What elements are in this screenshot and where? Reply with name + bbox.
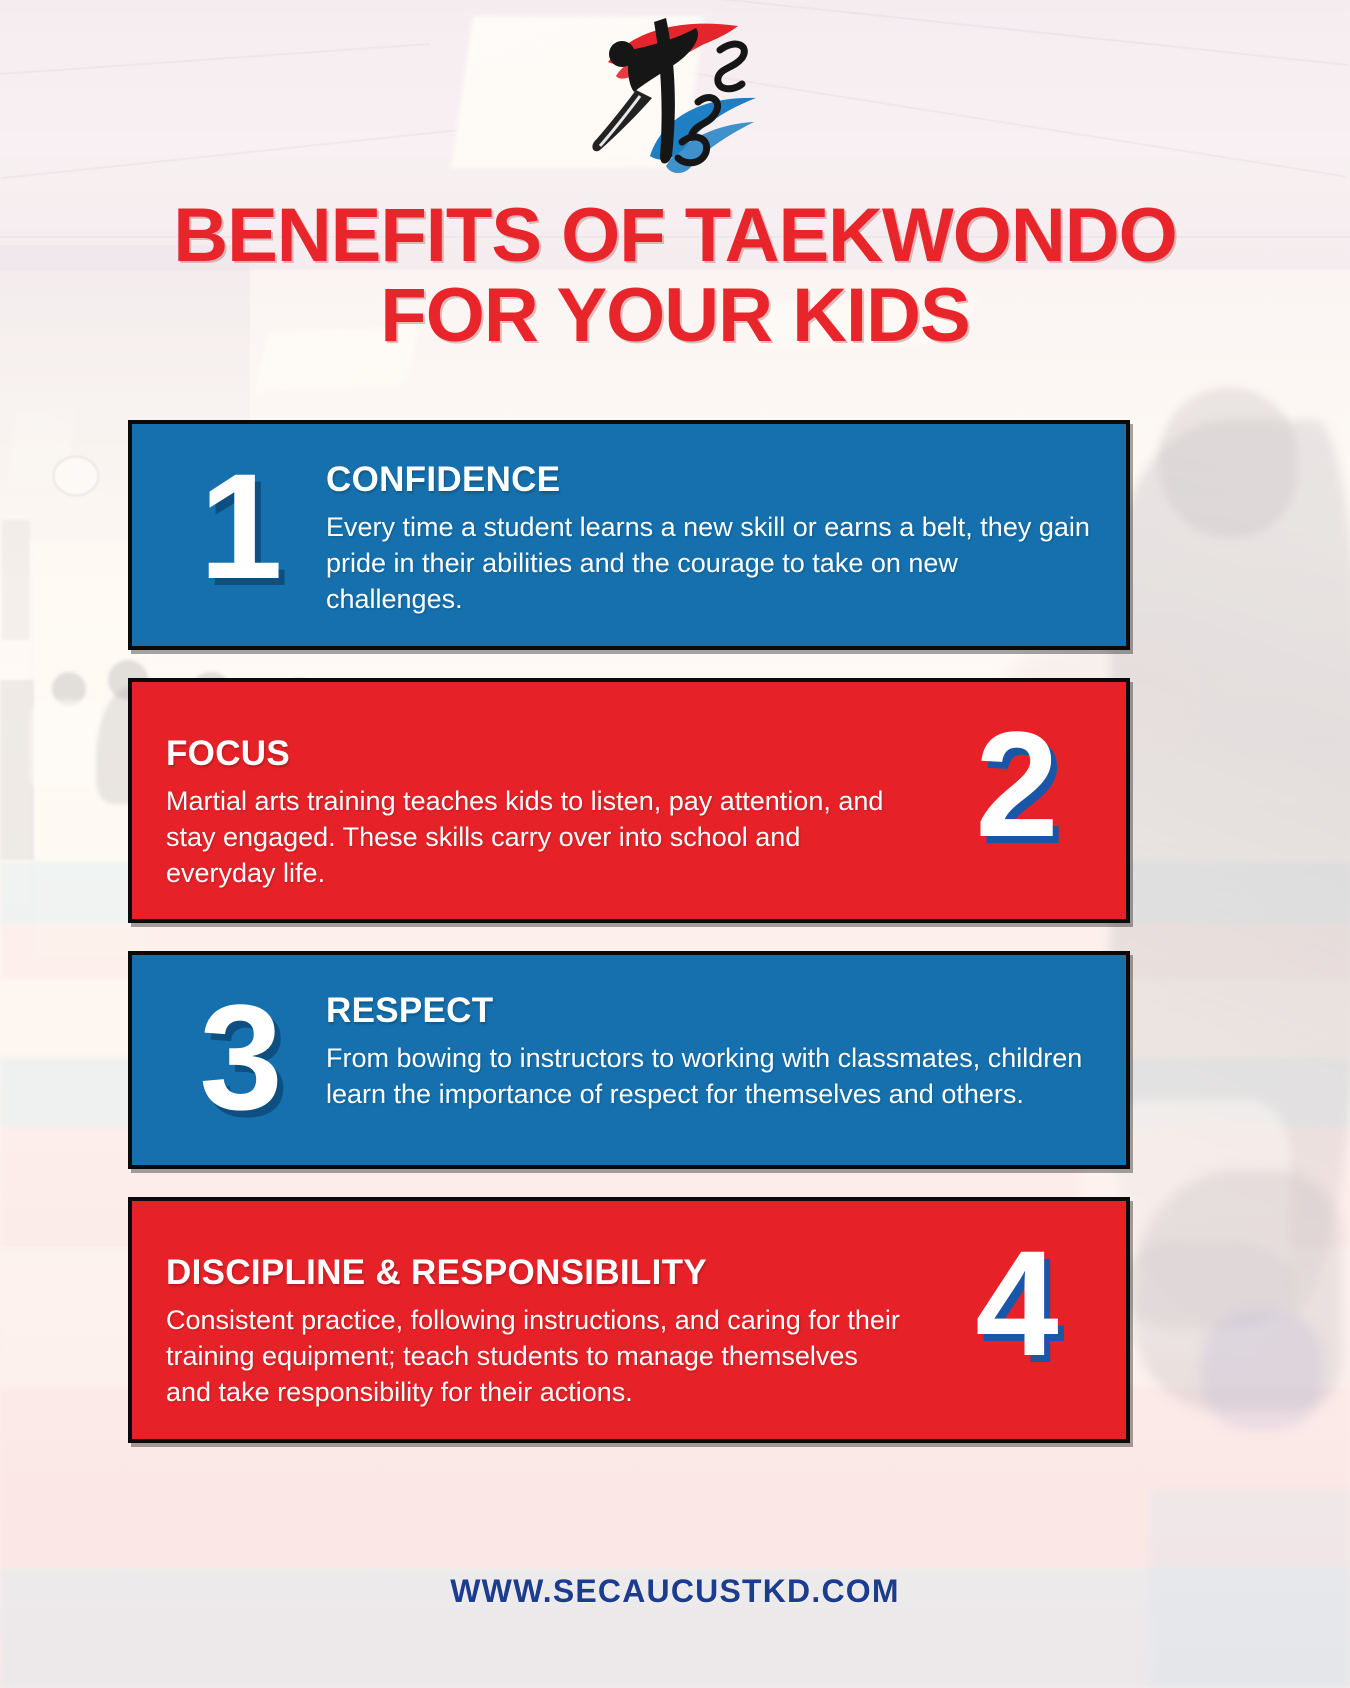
benefit-content: DISCIPLINE & RESPONSIBILITY Consistent p…: [166, 1231, 932, 1411]
taekwondo-kick-logo-icon: Smac: [570, 6, 780, 181]
infographic-page: Smac BENEFITS OF TAEKWONDO FOR YOUR KIDS…: [0, 0, 1350, 1688]
page-title: BENEFITS OF TAEKWONDO FOR YOUR KIDS: [0, 196, 1350, 356]
benefit-number: 2: [942, 712, 1092, 856]
benefit-title: CONFIDENCE: [326, 460, 1092, 500]
benefit-number: 3: [166, 985, 316, 1129]
page-title-line1: BENEFITS OF TAEKWONDO: [173, 193, 1177, 278]
benefit-number: 1: [166, 454, 316, 598]
page-title-line2: FOR YOUR KIDS: [0, 276, 1350, 356]
benefit-number: 4: [942, 1231, 1092, 1375]
benefit-text: Martial arts training teaches kids to li…: [166, 784, 906, 892]
benefit-content: CONFIDENCE Every time a student learns a…: [326, 454, 1092, 618]
website-url[interactable]: WWW.SECAUCUSTKD.COM: [0, 1573, 1350, 1610]
benefit-text: Every time a student learns a new skill …: [326, 510, 1092, 618]
benefit-text: Consistent practice, following instructi…: [166, 1303, 906, 1411]
benefit-title: DISCIPLINE & RESPONSIBILITY: [166, 1253, 932, 1293]
benefit-card-focus: 2 FOCUS Martial arts training teaches ki…: [128, 678, 1130, 924]
benefit-card-respect: 3 RESPECT From bowing to instructors to …: [128, 951, 1130, 1169]
benefit-text: From bowing to instructors to working wi…: [326, 1041, 1092, 1113]
benefit-card-discipline-responsibility: 4 DISCIPLINE & RESPONSIBILITY Consistent…: [128, 1197, 1130, 1443]
benefit-title: FOCUS: [166, 734, 932, 774]
benefit-title: RESPECT: [326, 991, 1092, 1031]
benefit-content: FOCUS Martial arts training teaches kids…: [166, 712, 932, 892]
benefits-list: 1 CONFIDENCE Every time a student learns…: [128, 420, 1130, 1471]
benefit-content: RESPECT From bowing to instructors to wo…: [326, 985, 1092, 1113]
brand-logo: Smac: [570, 6, 780, 181]
benefit-card-confidence: 1 CONFIDENCE Every time a student learns…: [128, 420, 1130, 650]
